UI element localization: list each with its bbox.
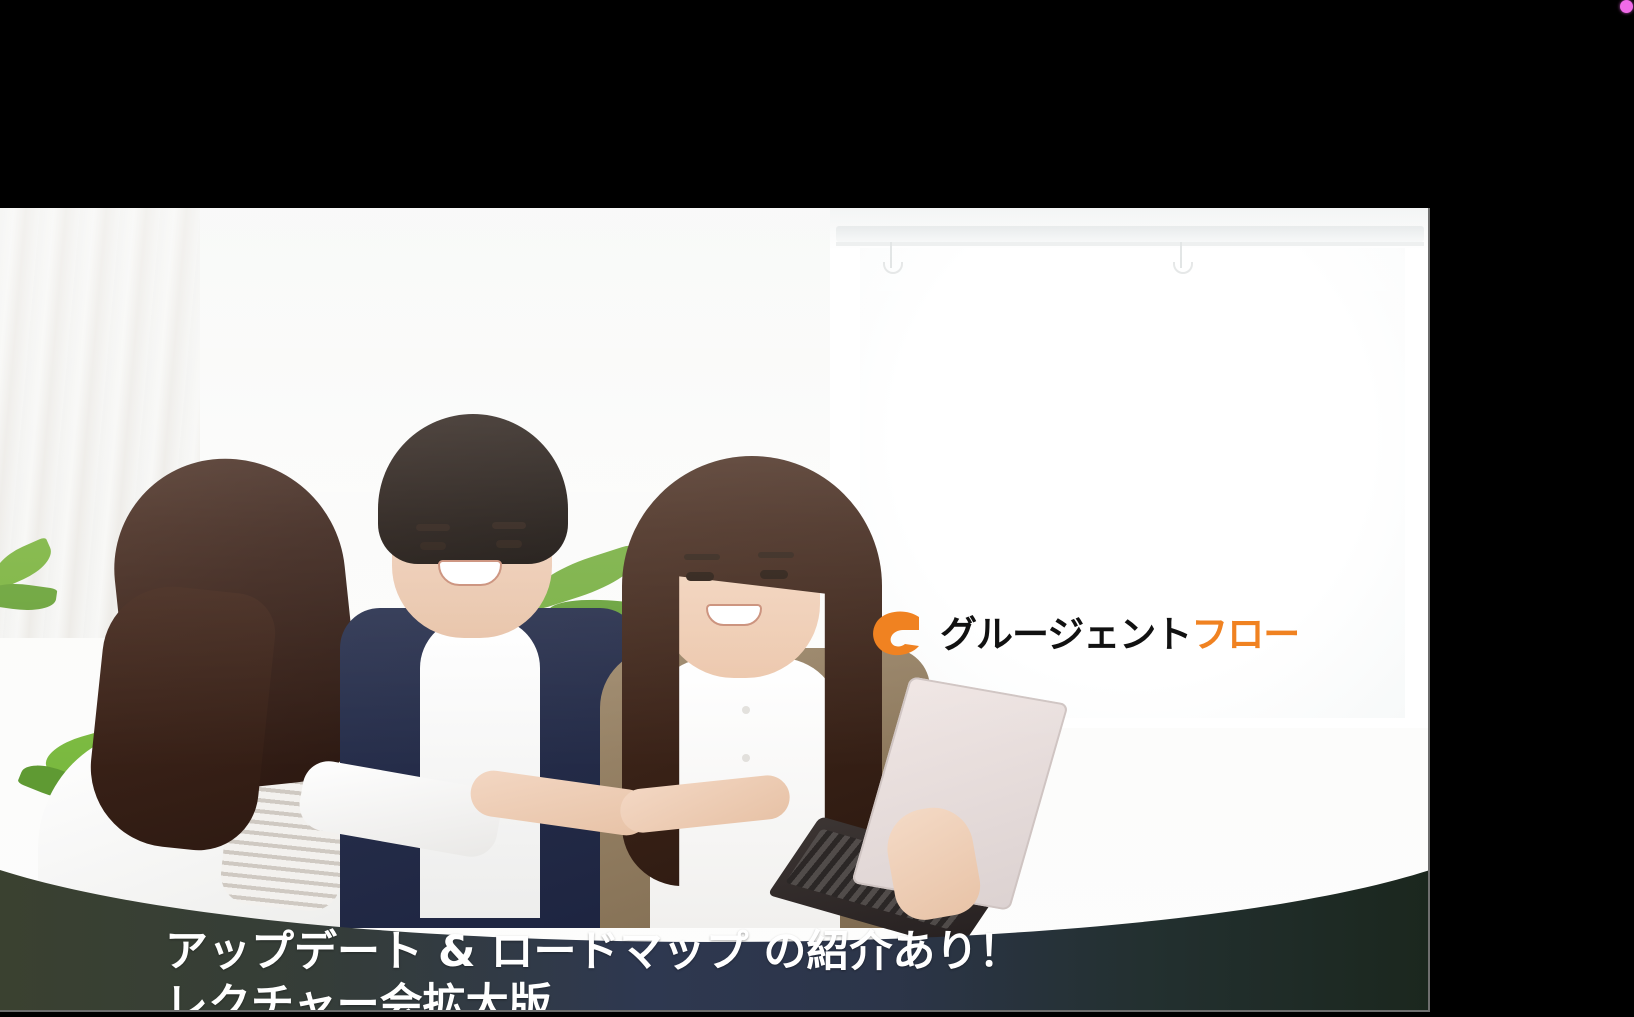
logo-wordmark-orange: フロー xyxy=(1191,613,1299,656)
curtain-hook-icon xyxy=(1180,242,1182,268)
logo-wordmark: グルージェントフロー xyxy=(940,616,1299,653)
footer-band-text: アップデート & ロードマップ の紹介あり！ レクチャー会拡大版 〜 新規サービ… xyxy=(0,848,1430,1012)
presentation-slide: グルージェントフロー xyxy=(0,208,1430,1012)
slide-title-line1: アップデート & ロードマップ の紹介あり！ xyxy=(165,926,1021,979)
logo-wordmark-black: グルージェント xyxy=(940,613,1191,656)
slide-title-line2: レクチャー会拡大版 xyxy=(165,979,1021,1012)
slide-title: アップデート & ロードマップ の紹介あり！ レクチャー会拡大版 xyxy=(165,926,1021,1012)
curtain-rail xyxy=(836,226,1424,242)
gluegent-swoosh-mark xyxy=(872,611,926,657)
pointer-dot xyxy=(1620,0,1633,13)
gluegent-flow-logo: グルージェントフロー xyxy=(872,611,1299,657)
curtain-hook-icon xyxy=(890,242,892,268)
screen-root: グルージェントフロー xyxy=(0,0,1634,1017)
